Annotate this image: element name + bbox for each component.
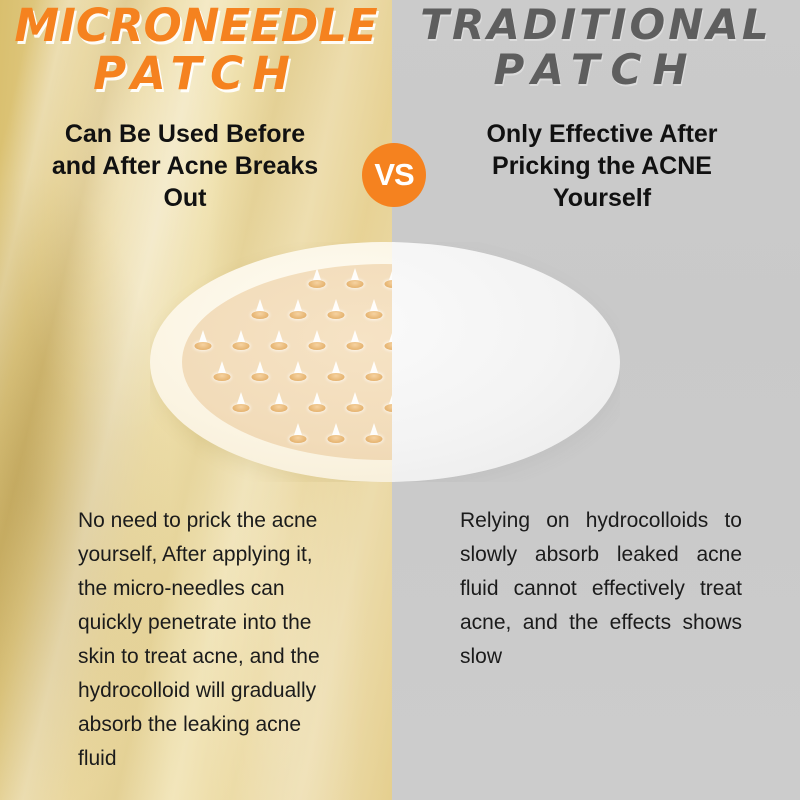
- left-panel-background: [0, 0, 392, 800]
- comparison-infographic: MICRONEEDLE PATCH TRADITIONAL PATCH Can …: [0, 0, 800, 800]
- right-panel-background: [392, 0, 800, 800]
- versus-badge: VS: [362, 143, 426, 207]
